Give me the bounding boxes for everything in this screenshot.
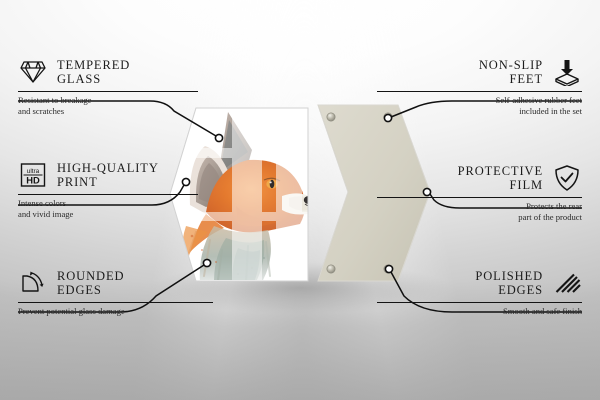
feature-desc-line2: included in the set [377,106,582,117]
feature-desc-line1: Self-adhesive rubber feet [377,95,582,106]
feature-desc-line1: Intense colors [18,198,198,209]
ultra-hd-icon: ultra HD [18,160,48,190]
divider [18,91,198,92]
feature-desc-line1: Protects the rear [377,201,582,212]
divider [18,194,198,195]
dot-tempered-glass [215,134,222,141]
feature-rounded-edges[interactable]: ROUNDED EDGES Prevent potential glass da… [18,268,213,317]
feature-desc-line1: Prevent potential glass damage [18,306,213,317]
divider [18,302,213,303]
dot-rounded-edges [203,259,210,266]
feature-title-line1: HIGH-QUALITY [57,161,159,176]
svg-text:HD: HD [26,175,40,186]
divider [377,91,582,92]
feature-high-quality-print[interactable]: ultra HD HIGH-QUALITY PRINT Intense colo… [18,160,198,219]
feature-non-slip-feet[interactable]: NON-SLIP FEET Self-adhesive rubber feet … [377,57,582,116]
feature-title-line2: EDGES [475,283,543,298]
feature-title-line2: PRINT [57,175,159,190]
feature-title-line2: GLASS [57,72,130,87]
diamond-icon [18,57,48,87]
feature-protective-film[interactable]: PROTECTIVE FILM Protects the rear part o… [377,163,582,222]
feature-desc-line1: Resistant to breakage [18,95,198,106]
divider [377,197,582,198]
feature-polished-edges[interactable]: POLISHED EDGES Smooth and safe finish [377,268,582,317]
feature-title-line2: FEET [479,72,543,87]
rounded-corner-icon [18,268,48,298]
feature-title-line1: POLISHED [475,269,543,284]
feature-desc-line2: and vivid image [18,209,198,220]
feature-title-line1: TEMPERED [57,58,130,73]
feature-title-line1: ROUNDED [57,269,124,284]
infographic-canvas: TEMPERED GLASS Resistant to breakage and… [0,0,600,400]
feature-title-line1: PROTECTIVE [458,164,543,179]
shield-check-icon [552,163,582,193]
diagonal-stripes-icon [552,268,582,298]
feature-desc-line2: part of the product [377,212,582,223]
press-down-pad-icon [552,57,582,87]
feature-title-line2: EDGES [57,283,124,298]
feature-title-line2: FILM [458,178,543,193]
divider [377,302,582,303]
feature-title-line1: NON-SLIP [479,58,543,73]
feature-desc-line2: and scratches [18,106,198,117]
feature-tempered-glass[interactable]: TEMPERED GLASS Resistant to breakage and… [18,57,198,116]
feature-desc-line1: Smooth and safe finish [377,306,582,317]
